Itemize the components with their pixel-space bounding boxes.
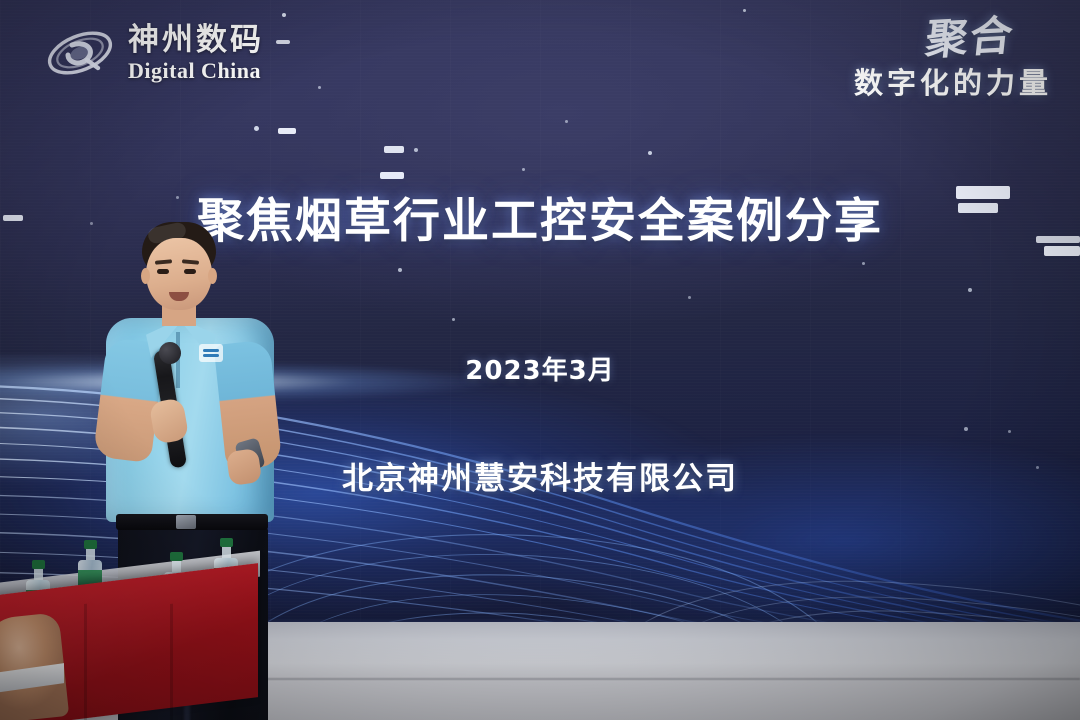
table-cloth-fold [170, 604, 173, 720]
speaker-ear-right [208, 268, 217, 284]
digital-china-wordmark: 神州数码 Digital China [128, 25, 264, 82]
table-cloth-fold [84, 604, 87, 720]
speaker-ear-left [141, 268, 150, 284]
screenshot-root: 神州数码 Digital China 聚合 数字化的力量 聚焦烟草行业工控安全案… [0, 0, 1080, 720]
digital-china-swirl-icon [44, 22, 116, 84]
event-tagline-cn: 数字化的力量 [854, 60, 1052, 102]
brand-name-en: Digital China [128, 60, 264, 82]
digital-china-logo: 神州数码 Digital China [44, 22, 264, 84]
event-mark-cn: 聚合 [924, 16, 1017, 60]
speaker-eye-right [184, 269, 196, 274]
brand-name-cn: 神州数码 [128, 25, 264, 56]
speaker-shirt-logo-icon [199, 344, 223, 362]
event-logo: 聚合 数字化的力量 [854, 18, 1052, 102]
speaker-belt-buckle [176, 515, 196, 529]
speaker-eye-left [157, 269, 169, 274]
speaker-right-hand [226, 448, 262, 486]
